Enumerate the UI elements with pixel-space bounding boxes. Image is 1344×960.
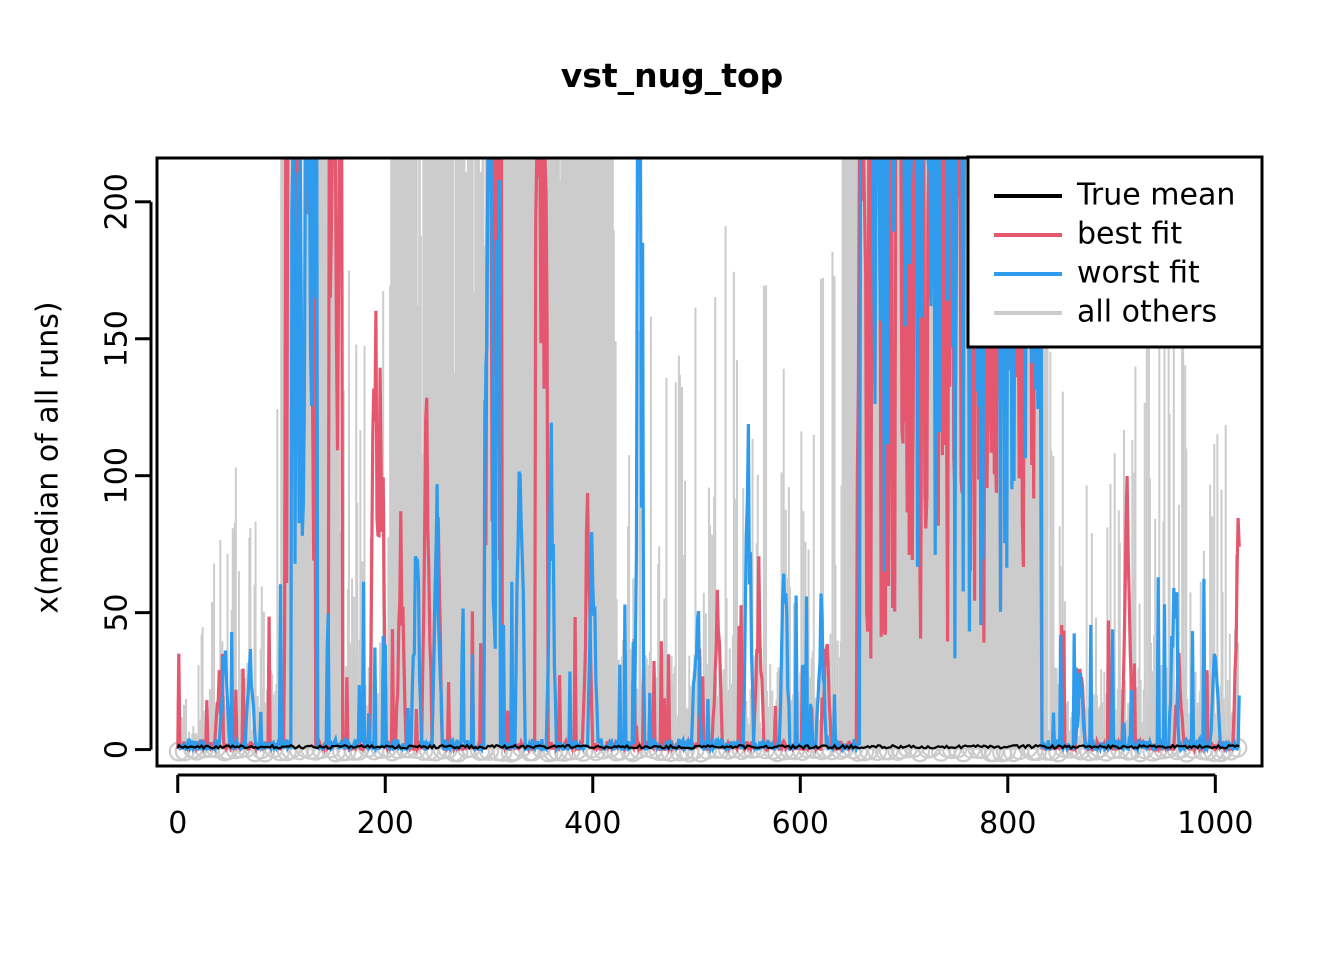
y-tick-label: 200 [100,173,135,230]
chart-figure: vst_nug_top x(median of all runs) 050100… [0,0,1344,960]
y-axis: 050100150200 [100,173,152,759]
legend[interactable]: True meanbest fitworst fitall others [968,157,1262,347]
y-tick-label: 50 [100,594,135,632]
legend-label-0: True mean [1076,178,1235,213]
x-tick-label: 600 [772,806,829,841]
x-tick-label: 400 [564,806,621,841]
x-tick-label: 200 [357,806,414,841]
legend-label-1: best fit [1077,217,1182,252]
plot-area: 050100150200 02004006008001000 True mean… [0,0,1344,960]
x-axis: 02004006008001000 [168,775,1253,841]
y-tick-label: 150 [100,310,135,367]
y-tick-label: 0 [100,740,135,759]
legend-label-2: worst fit [1077,256,1200,291]
x-tick-label: 800 [979,806,1036,841]
y-tick-label: 100 [100,447,135,504]
legend-label-3: all others [1077,295,1217,330]
x-tick-label: 1000 [1177,806,1253,841]
x-tick-label: 0 [168,806,187,841]
